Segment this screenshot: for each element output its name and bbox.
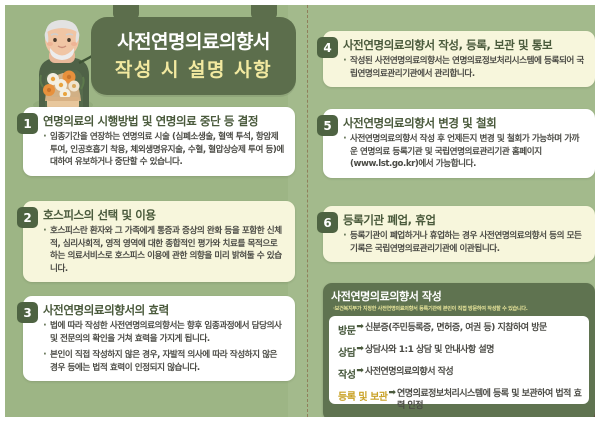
step-text: 신분증(주민등록증, 면허증, 여권 등) 지참하여 방문 [365,322,547,334]
process-step-visit: 방문 ➡ 신분증(주민등록증, 면허증, 여권 등) 지참하여 방문 [338,322,582,337]
section-card-1: 1 연명의료의 시행방법 및 연명의료 중단 등 결정 임종기간을 연장하는 연… [23,107,295,176]
step-label: 등록 및 보관 [338,388,387,403]
section-number-badge-3: 3 [17,302,38,323]
process-steps: 방문 ➡ 신분증(주민등록증, 면허증, 여권 등) 지참하여 방문 상담 ➡ … [329,316,589,404]
section-number-badge-1: 1 [17,113,38,134]
bullet-item: 작성된 사전연명의료의향서는 연명의료정보처리시스템에 등록되어 국립연명의료관… [343,55,586,80]
process-step-write: 작성 ➡ 사전연명의료의향서 작성 [338,366,582,381]
bullet-item: 본인이 직접 작성하지 않은 경우, 자발적 의사에 따라 작성하지 않은 경우… [43,349,286,374]
section-bullets-4: 작성된 사전연명의료의향서는 연명의료정보처리시스템에 등록되어 국립연명의료관… [323,54,595,87]
arrow-right-icon: ➡ [356,322,364,332]
section-title-6: 등록기관 폐업, 휴업 [323,206,595,229]
title-line-1: 사전연명의료의향서 [117,32,270,53]
section-card-5: 5 사전연명의료의향서 변경 및 철회 사전연명의료의향서 작성 후 언제든지 … [323,109,595,178]
section-bullets-3: 법에 따라 작성한 사전연명의료의향서는 향후 임종과정에서 담당의사 및 전문… [23,319,295,381]
process-panel-heading: 사전연명의료의향서 작성 [323,283,595,304]
section-card-4: 4 사전연명의료의향서 작성, 등록, 보관 및 통보 작성된 사전연명의료의향… [323,31,595,87]
section-bullets-1: 임종기간을 연장하는 연명의료 시술 (심폐소생술, 혈액 투석, 항암제 투여… [23,130,295,175]
step-label: 작성 [338,366,355,381]
bullet-item: 임종기간을 연장하는 연명의료 시술 (심폐소생술, 혈액 투석, 항암제 투여… [43,131,286,168]
section-card-3: 3 사전연명의료의향서의 효력 법에 따라 작성한 사전연명의료의향서는 향후 … [23,296,295,381]
section-card-6: 6 등록기관 폐업, 휴업 등록기관이 폐업하거나 휴업하는 경우 사전연명의료… [323,206,595,262]
arrow-right-icon: ➡ [356,344,364,354]
bullet-item: 호스피스란 환자와 그 가족에게 통증과 증상의 완화 등을 포함한 신체적, … [43,225,286,275]
title-line-2: 작성 시 설명 사항 [115,60,272,81]
step-text: 연명의료정보처리시스템에 등록 및 보관하여 법적 효력 인정 [397,388,582,412]
fold-line [307,5,308,417]
process-panel-subnote: ·보건복지부가 지정한 사전연명의료의향서 등록기관에 본인이 직접 방문하여 … [323,304,595,312]
process-panel: 사전연명의료의향서 작성 ·보건복지부가 지정한 사전연명의료의향서 등록기관에… [323,283,595,421]
process-step-consult: 상담 ➡ 상담사와 1:1 상담 및 안내사항 설명 [338,344,582,359]
step-label: 상담 [338,344,355,359]
section-bullets-6: 등록기관이 폐업하거나 휴업하는 경우 사전연명의료의향서 등의 모든 기록은 … [323,229,595,262]
section-number-badge-6: 6 [317,212,338,233]
section-number-badge-4: 4 [317,37,338,58]
poster: 사전연명의료의향서 작성 시 설명 사항 1 연명의료의 시행방법 및 연명의료… [0,0,600,422]
step-label: 방문 [338,322,355,337]
poster-title: 사전연명의료의향서 작성 시 설명 사항 [91,17,296,95]
step-text: 사전연명의료의향서 작성 [365,366,453,378]
step-text: 상담사와 1:1 상담 및 안내사항 설명 [365,344,494,356]
section-title-2: 호스피스의 선택 및 이용 [23,201,295,224]
section-title-5: 사전연명의료의향서 변경 및 철회 [323,109,595,132]
section-title-1: 연명의료의 시행방법 및 연명의료 중단 등 결정 [23,107,295,130]
section-title-4: 사전연명의료의향서 작성, 등록, 보관 및 통보 [323,31,595,54]
section-card-2: 2 호스피스의 선택 및 이용 호스피스란 환자와 그 가족에게 통증과 증상의… [23,201,295,282]
process-step-register: 등록 및 보관 ➡ 연명의료정보처리시스템에 등록 및 보관하여 법적 효력 인… [338,388,582,412]
section-number-badge-2: 2 [17,207,38,228]
bullet-item: 등록기관이 폐업하거나 휴업하는 경우 사전연명의료의향서 등의 모든 기록은 … [343,230,586,255]
arrow-right-icon: ➡ [388,388,396,398]
section-bullets-2: 호스피스란 환자와 그 가족에게 통증과 증상의 완화 등을 포함한 신체적, … [23,224,295,282]
section-title-3: 사전연명의료의향서의 효력 [23,296,295,319]
arrow-right-icon: ➡ [356,366,364,376]
bullet-item: 사전연명의료의향서 작성 후 언제든지 변경 및 철회가 가능하며 가까운 연명… [343,133,586,170]
section-number-badge-5: 5 [317,115,338,136]
bullet-item: 법에 따라 작성한 사전연명의료의향서는 향후 임종과정에서 담당의사 및 전문… [43,320,286,345]
section-bullets-5: 사전연명의료의향서 작성 후 언제든지 변경 및 철회가 가능하며 가까운 연명… [323,132,595,177]
